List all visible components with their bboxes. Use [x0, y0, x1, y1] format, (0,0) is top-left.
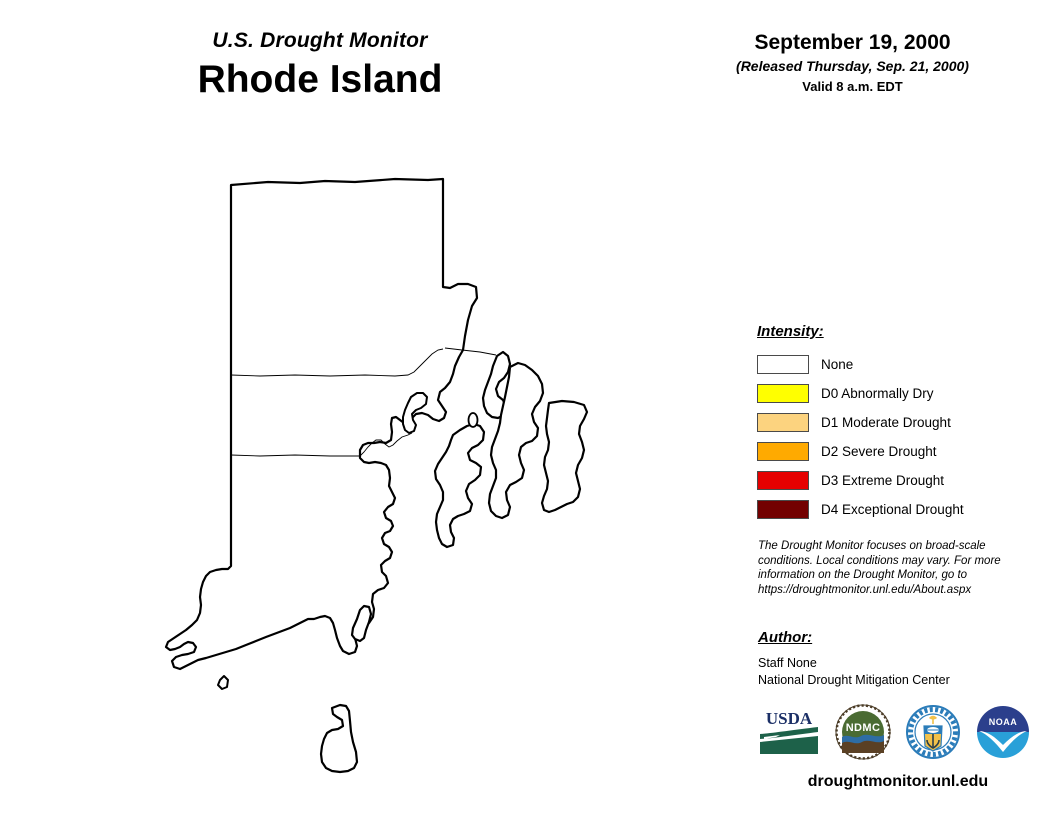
legend-heading: Intensity: — [757, 322, 1037, 342]
author-block: Author: Staff None National Drought Miti… — [758, 628, 1038, 688]
ri-mainland-outline — [166, 179, 477, 669]
legend-swatch-d0 — [757, 384, 809, 403]
disclaimer-text: The Drought Monitor focuses on broad-sca… — [758, 539, 1020, 597]
ri-little-compton-outline — [542, 401, 587, 512]
legend-label-d0: D0 Abnormally Dry — [821, 386, 934, 402]
usda-logo[interactable]: USDA — [758, 704, 820, 756]
legend-label-d2: D2 Severe Drought — [821, 444, 937, 460]
ndmc-logo[interactable]: NDMC — [835, 704, 891, 760]
author-organization: National Drought Mitigation Center — [758, 672, 1038, 689]
legend-label-d3: D3 Extreme Drought — [821, 473, 944, 489]
svg-text:NOAA: NOAA — [989, 717, 1018, 727]
legend-swatch-d2 — [757, 442, 809, 461]
page-title: Rhode Island — [0, 56, 640, 104]
legend-label-d4: D4 Exceptional Drought — [821, 502, 964, 518]
legend-item-d0[interactable]: D0 Abnormally Dry — [757, 379, 1037, 408]
ri-bristol-peninsula-outline — [435, 424, 484, 547]
legend-item-d3[interactable]: D3 Extreme Drought — [757, 466, 1037, 495]
legend-swatch-none — [757, 355, 809, 374]
svg-text:USDA: USDA — [766, 709, 813, 728]
valid-time: Valid 8 a.m. EDT — [690, 78, 1015, 96]
legend-label-none: None — [821, 357, 853, 373]
ri-bay-islet — [469, 413, 478, 427]
svg-text:NDMC: NDMC — [846, 722, 881, 734]
ri-block-island — [321, 705, 357, 772]
title-block: U.S. Drought Monitor Rhode Island — [0, 28, 640, 104]
footer-url[interactable]: droughtmonitor.unl.edu — [757, 772, 1039, 792]
legend-item-none[interactable]: None — [757, 350, 1037, 379]
date-block: September 19, 2000 (Released Thursday, S… — [690, 30, 1015, 96]
drought-map[interactable] — [150, 160, 620, 800]
legend: Intensity: None D0 Abnormally Dry D1 Mod… — [757, 322, 1037, 524]
map-date: September 19, 2000 — [690, 30, 1015, 56]
usda-seal-logo[interactable] — [905, 704, 961, 760]
ri-prudence-island — [218, 676, 228, 689]
author-name: Staff None — [758, 655, 1038, 672]
release-date: (Released Thursday, Sep. 21, 2000) — [690, 57, 1015, 76]
legend-swatch-d4 — [757, 500, 809, 519]
author-heading: Author: — [758, 628, 1038, 648]
noaa-logo[interactable]: NOAA — [975, 704, 1031, 760]
legend-item-d1[interactable]: D1 Moderate Drought — [757, 408, 1037, 437]
legend-swatch-d1 — [757, 413, 809, 432]
logo-row: USDA NDMC NOAA — [755, 704, 1040, 762]
legend-item-d2[interactable]: D2 Severe Drought — [757, 437, 1037, 466]
legend-label-d1: D1 Moderate Drought — [821, 415, 951, 431]
program-title: U.S. Drought Monitor — [0, 28, 640, 54]
rhode-island-map-svg[interactable] — [150, 160, 620, 800]
legend-item-d4[interactable]: D4 Exceptional Drought — [757, 495, 1037, 524]
legend-swatch-d3 — [757, 471, 809, 490]
